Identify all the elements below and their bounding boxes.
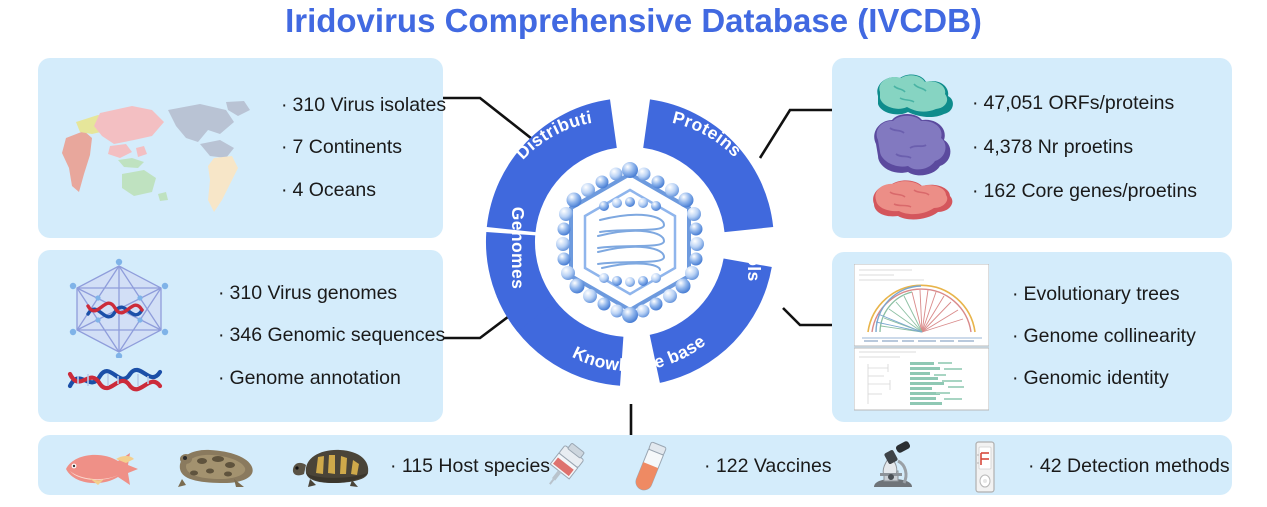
bullet-dot: ·: [972, 136, 979, 158]
frog-icon: [172, 443, 260, 489]
bullet-dot: ·: [972, 180, 979, 202]
panel-bottom-hosts-vaccines-detection[interactable]: · 115 Host species · 122 Vaccines: [38, 435, 1232, 495]
turtle-icon: [288, 443, 376, 489]
hub-wheel: Distribution Proteins Knowledge base Too…: [450, 62, 810, 422]
segment-label-tools: Tools: [744, 234, 764, 281]
bullet-item: ·310 Virus isolates: [281, 96, 446, 116]
bottom-label-hosts: · 115 Host species: [390, 455, 550, 478]
protein-blob-purple-icon: [874, 114, 950, 175]
bullet-dot: ·: [281, 136, 288, 158]
bullet-text: 7 Continents: [293, 136, 403, 158]
bullet-dot: ·: [281, 179, 288, 201]
bullet-text: Genomic identity: [1024, 367, 1169, 389]
protein-blob-teal-icon: [877, 75, 953, 118]
bullet-item: ·Evolutionary trees: [1012, 285, 1196, 305]
bullet-text: 346 Genomic sequences: [230, 324, 446, 346]
virus-icosahedron-icon: [60, 258, 178, 358]
bullet-text: 310 Virus genomes: [230, 282, 398, 304]
protein-blob-red-icon: [873, 180, 952, 219]
panel-distribution[interactable]: ·310 Virus isolates ·7 Continents ·4 Oce…: [38, 58, 443, 238]
bullet-text: Genome annotation: [230, 367, 401, 389]
segment-label-genomes: Genomes: [508, 207, 528, 290]
bullet-dot: ·: [1012, 325, 1019, 347]
bullet-item: ·7 Continents: [281, 138, 446, 158]
infographic-canvas: Iridovirus Comprehensive Database (IVCDB…: [0, 0, 1267, 507]
bullet-dot: ·: [390, 455, 397, 477]
bullet-dot: ·: [218, 324, 225, 346]
bullet-item: ·4,378 Nr proetins: [972, 138, 1197, 158]
bullet-text: 115 Host species: [402, 455, 550, 477]
bullet-item: ·4 Oceans: [281, 181, 446, 201]
genomes-bullets: ·310 Virus genomes ·346 Genomic sequence…: [218, 250, 445, 422]
bullet-text: 42 Detection methods: [1040, 455, 1230, 477]
syringe-icon: [538, 441, 590, 491]
bullet-dot: ·: [1012, 367, 1019, 389]
bullet-text: 4,378 Nr proetins: [984, 136, 1134, 158]
bullet-text: 310 Virus isolates: [293, 94, 447, 116]
protein-blobs-group-icon: [864, 70, 966, 228]
bullet-text: Evolutionary trees: [1024, 283, 1180, 305]
world-map-icon: [48, 100, 263, 225]
bullet-dot: ·: [1028, 455, 1035, 477]
donut-chart: Distribution Proteins Knowledge base Too…: [450, 62, 810, 422]
vaccine-vial-icon: [628, 441, 672, 493]
bullet-text: 47,051 ORFs/proteins: [984, 92, 1175, 114]
tools-bullets: ·Evolutionary trees ·Genome collinearity…: [1012, 252, 1196, 422]
panel-tools[interactable]: ·Evolutionary trees ·Genome collinearity…: [832, 252, 1232, 422]
bullet-dot: ·: [218, 367, 225, 389]
bullet-dot: ·: [218, 282, 225, 304]
bullet-text: 122 Vaccines: [716, 455, 832, 477]
phylogenetic-tree-screenshot-icon[interactable]: [854, 264, 989, 412]
microscope-icon: [858, 441, 924, 491]
proteins-bullets: ·47,051 ORFs/proteins ·4,378 Nr proetins…: [972, 58, 1197, 238]
bullet-dot: ·: [1012, 283, 1019, 305]
bullet-item: ·Genome collinearity: [1012, 327, 1196, 347]
bullet-dot: ·: [281, 94, 288, 116]
bullet-item: ·Genome annotation: [218, 369, 445, 389]
bullet-item: ·346 Genomic sequences: [218, 326, 445, 346]
bullet-dot: ·: [972, 92, 979, 114]
bullet-item: ·47,051 ORFs/proteins: [972, 94, 1197, 114]
panel-proteins[interactable]: ·47,051 ORFs/proteins ·4,378 Nr proetins…: [832, 58, 1232, 238]
bullet-item: ·310 Virus genomes: [218, 284, 445, 304]
test-strip-icon: [968, 441, 1002, 493]
bottom-label-detection: · 42 Detection methods: [1028, 455, 1230, 478]
bullet-item: ·Genomic identity: [1012, 369, 1196, 389]
fish-icon: [60, 445, 145, 487]
panel-genomes[interactable]: ·310 Virus genomes ·346 Genomic sequence…: [38, 250, 443, 422]
virus-capsid-icon: [556, 162, 704, 323]
bullet-dot: ·: [704, 455, 711, 477]
dna-helix-icon: [64, 358, 172, 400]
bullet-text: 162 Core genes/proetins: [984, 180, 1198, 202]
distribution-bullets: ·310 Virus isolates ·7 Continents ·4 Oce…: [281, 58, 446, 238]
bullet-item: ·162 Core genes/proetins: [972, 182, 1197, 202]
bottom-label-vaccines: · 122 Vaccines: [704, 455, 832, 478]
bullet-text: Genome collinearity: [1024, 325, 1196, 347]
bullet-text: 4 Oceans: [293, 179, 376, 201]
